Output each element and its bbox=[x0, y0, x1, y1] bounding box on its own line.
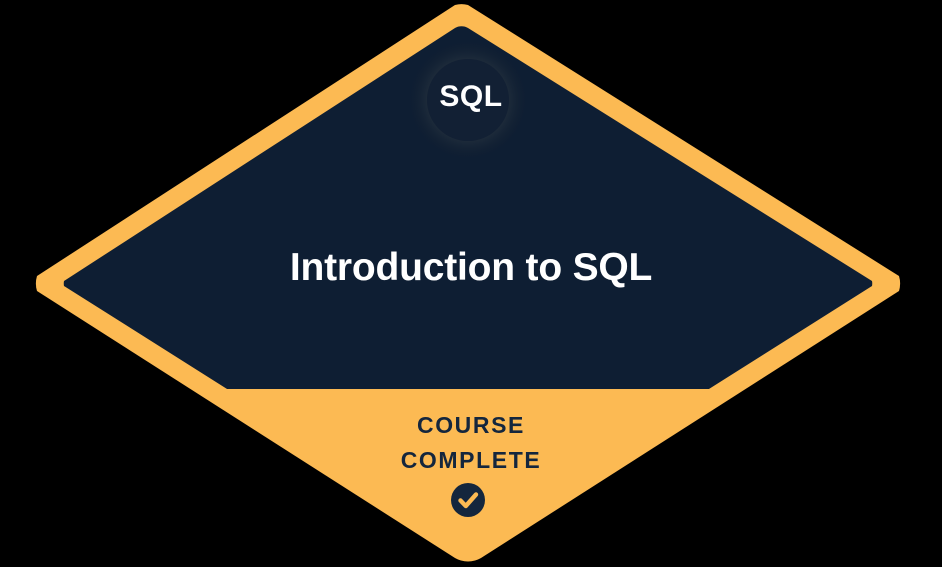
badge-graphic bbox=[0, 0, 942, 567]
course-completion-badge: SQL Introduction to SQL COURSE COMPLETE bbox=[0, 0, 942, 567]
check-badge-circle bbox=[451, 483, 485, 517]
sql-tag-glow bbox=[409, 41, 527, 159]
